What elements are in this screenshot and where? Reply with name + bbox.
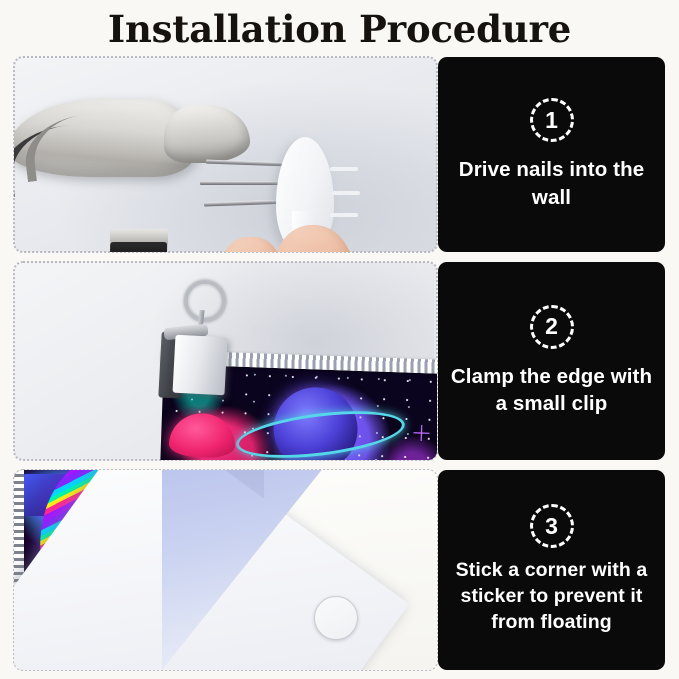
step-caption-text: Clamp the edge with a small clip <box>438 363 665 418</box>
step-1-caption-panel: 1 Drive nails into the wall <box>438 57 665 252</box>
step-3-photo <box>14 470 437 670</box>
sparkle-icon <box>413 425 430 442</box>
step-1-photo <box>14 57 437 252</box>
step-3-caption-panel: 3 Stick a corner with a sticker to preve… <box>438 470 665 670</box>
hammer-collar-icon <box>110 242 167 252</box>
step-number-badge: 1 <box>530 98 574 142</box>
installation-procedure-poster: Installation Procedure 1 Driv <box>0 0 679 679</box>
step-row-1: 1 Drive nails into the wall <box>14 57 665 252</box>
step-caption-text: Stick a corner with a sticker to prevent… <box>438 558 665 636</box>
hook-nub-icon <box>332 191 360 195</box>
step-number-badge: 3 <box>530 504 574 548</box>
hook-nub-icon <box>330 213 358 217</box>
step-2-photo <box>14 262 437 460</box>
step-caption-text: Drive nails into the wall <box>438 156 665 211</box>
step-row-3: 3 Stick a corner with a sticker to preve… <box>14 470 665 670</box>
hook-nub-icon <box>330 167 358 171</box>
adhesive-sticker-icon <box>314 596 358 640</box>
page-title: Installation Procedure <box>0 7 679 51</box>
clip-ring-icon <box>184 280 226 322</box>
binder-clip-icon <box>173 335 228 396</box>
step-2-caption-panel: 2 Clamp the edge with a small clip <box>438 262 665 460</box>
step-row-2: 2 Clamp the edge with a small clip <box>14 262 665 460</box>
step-number-badge: 2 <box>530 305 574 349</box>
